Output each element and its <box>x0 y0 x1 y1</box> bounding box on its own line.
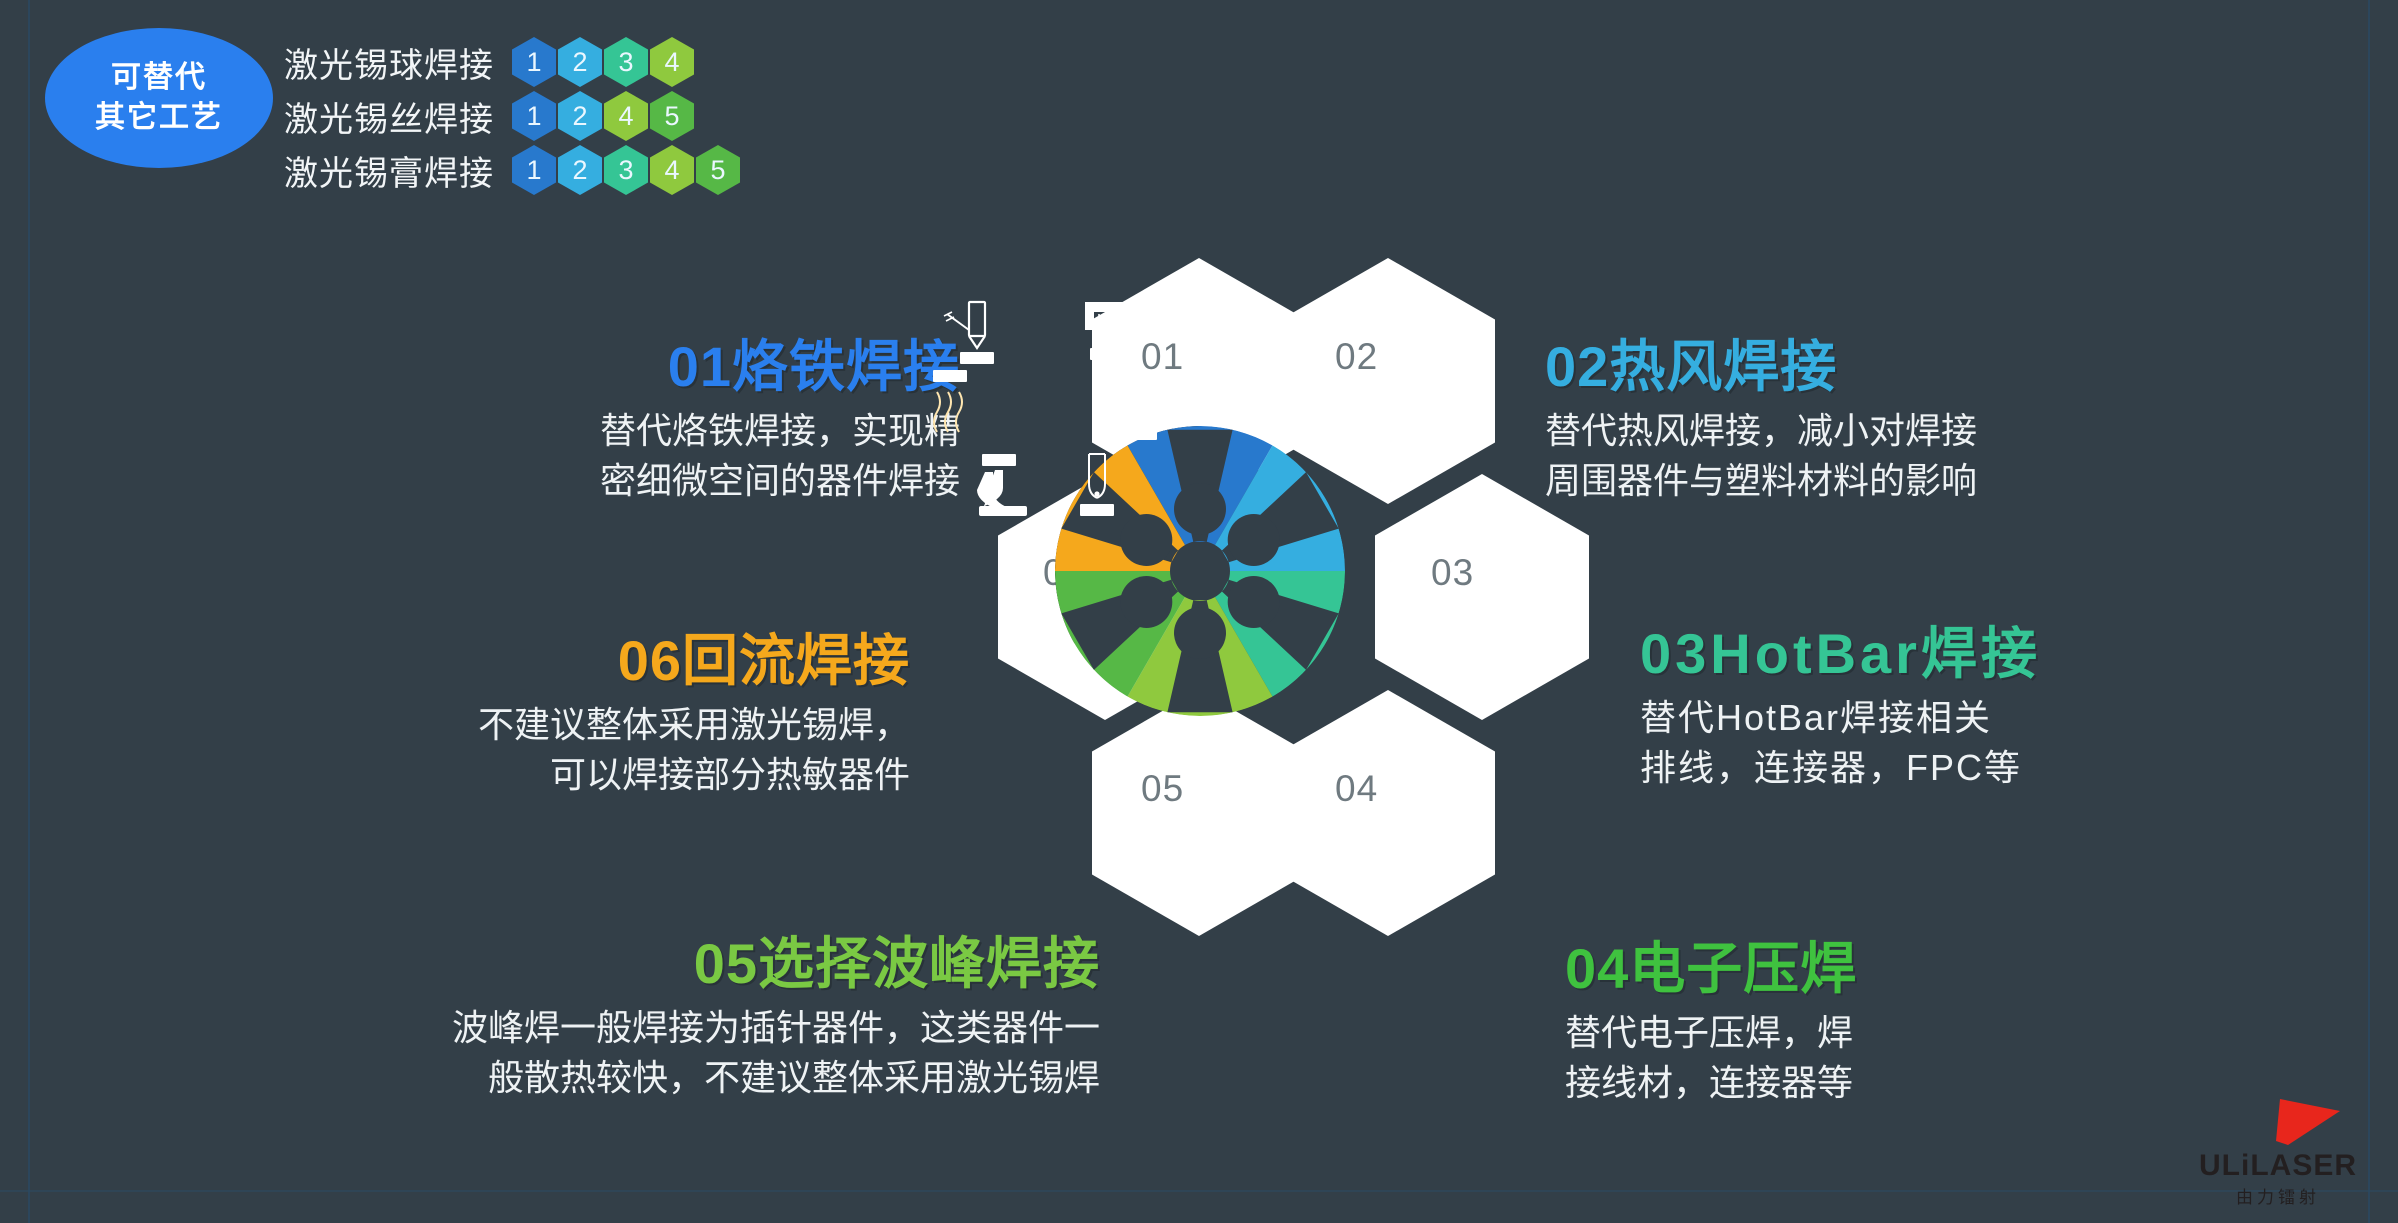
legend-label: 激光锡丝焊接 <box>284 92 502 141</box>
section-block-01: 01烙铁焊接 替代烙铁焊接，实现精 密细微空间的器件焊接 <box>300 338 960 506</box>
heat-waves-icon <box>934 392 962 432</box>
solder-pad-05 <box>982 454 1016 466</box>
hexagon-diagram: 01 02 03 04 05 06 <box>903 258 1495 938</box>
guide-line-bottom <box>0 1190 2398 1192</box>
guide-line-left <box>28 0 30 1223</box>
logo-wordmark: ULiLASER <box>2180 1149 2376 1183</box>
soldering-iron-icon <box>944 302 985 348</box>
wire-bonder-icon <box>1089 454 1105 498</box>
solder-pad-01 <box>960 352 994 364</box>
legend-label: 激光锡球焊接 <box>284 38 502 87</box>
hex-cell-04[interactable] <box>1281 690 1495 936</box>
section-block-03: 03HotBar焊接 替代HotBar焊接相关 排线，连接器，FPC等 <box>1640 625 2380 793</box>
hex-number-03: 03 <box>1431 552 1474 594</box>
hot-air-nozzle-icon <box>1085 302 1129 342</box>
solder-pad-04 <box>1080 504 1114 516</box>
legend-hex: 4 <box>604 91 648 141</box>
section-title-05: 05选择波峰焊接 <box>60 935 1100 993</box>
section-block-05: 05选择波峰焊接 波峰焊一般焊接为插针器件，这类器件一 般散热较快，不建议整体采… <box>60 935 1100 1103</box>
legend-hex: 5 <box>650 91 694 141</box>
legend-hex: 1 <box>512 91 556 141</box>
legend-hex: 3 <box>604 37 648 87</box>
hex-cell-03[interactable] <box>1375 474 1589 720</box>
legend-hex: 3 <box>604 145 648 195</box>
hex-number-05: 05 <box>1141 768 1184 810</box>
legend-label: 激光锡膏焊接 <box>284 146 502 195</box>
legend-row: 激光锡膏焊接 1 2 3 4 5 <box>284 146 742 194</box>
logo-subtitle: 由力镭射 <box>2180 1183 2376 1208</box>
legend-hex: 2 <box>558 145 602 195</box>
replaceable-processes-badge: 可替代 其它工艺 <box>45 28 273 168</box>
section-title-03: 03HotBar焊接 <box>1640 625 2380 683</box>
section-block-04: 04电子压焊 替代电子压焊，焊 接线材，连接器等 <box>1565 940 2265 1108</box>
hotbar-press-icon <box>1125 378 1155 420</box>
solder-pad-03 <box>1123 428 1157 440</box>
legend-hex: 5 <box>696 145 740 195</box>
hex-cell-05[interactable] <box>1092 690 1306 936</box>
section-desc-05: 波峰焊一般焊接为插针器件，这类器件一 般散热较快，不建议整体采用激光锡焊 <box>60 1003 1100 1102</box>
legend-hex-group: 1 2 4 5 <box>512 91 696 141</box>
hex-number-02: 02 <box>1335 336 1378 378</box>
wave-solder-icon <box>977 470 1027 516</box>
guide-line-right <box>2368 0 2370 1223</box>
legend-hex: 1 <box>512 145 556 195</box>
badge-line-1: 可替代 <box>111 58 207 98</box>
hex-number-04: 04 <box>1335 768 1378 810</box>
logo-mark-icon <box>2180 1093 2376 1149</box>
legend-row: 激光锡球焊接 1 2 3 4 <box>284 38 742 86</box>
section-title-04: 04电子压焊 <box>1565 940 2265 998</box>
section-title-02: 02热风焊接 <box>1545 338 2265 396</box>
section-desc-06: 不建议整体采用激光锡焊， 可以焊接部分热敏器件 <box>170 700 910 799</box>
section-desc-01: 替代烙铁焊接，实现精 密细微空间的器件焊接 <box>300 406 960 505</box>
section-block-06: 06回流焊接 不建议整体采用激光锡焊， 可以焊接部分热敏器件 <box>170 632 910 800</box>
section-desc-03: 替代HotBar焊接相关 排线，连接器，FPC等 <box>1640 693 2380 792</box>
legend-hex: 4 <box>650 37 694 87</box>
legend-row: 激光锡丝焊接 1 2 4 5 <box>284 92 742 140</box>
section-block-02: 02热风焊接 替代热风焊接，减小对焊接 周围器件与塑料材料的影响 <box>1545 338 2265 506</box>
solder-pad-02 <box>1090 348 1124 360</box>
infographic-canvas: 可替代 其它工艺 激光锡球焊接 1 2 3 4 激光锡丝焊接 1 2 4 5 激… <box>0 0 2398 1223</box>
petal-icon-layer <box>903 258 1193 548</box>
section-desc-02: 替代热风焊接，减小对焊接 周围器件与塑料材料的影响 <box>1545 406 2265 505</box>
legend-hex: 4 <box>650 145 694 195</box>
section-desc-04: 替代电子压焊，焊 接线材，连接器等 <box>1565 1008 2265 1107</box>
solder-pad-06 <box>933 370 967 382</box>
badge-line-2: 其它工艺 <box>95 98 223 138</box>
company-logo: ULiLASER 由力镭射 <box>2180 1093 2376 1209</box>
section-title-06: 06回流焊接 <box>170 632 910 690</box>
legend-group: 激光锡球焊接 1 2 3 4 激光锡丝焊接 1 2 4 5 激光锡膏焊接 1 2… <box>284 38 742 200</box>
section-title-01: 01烙铁焊接 <box>300 338 960 396</box>
legend-hex: 2 <box>558 37 602 87</box>
legend-hex-group: 1 2 3 4 5 <box>512 145 742 195</box>
legend-hex: 1 <box>512 37 556 87</box>
legend-hex-group: 1 2 3 4 <box>512 37 696 87</box>
legend-hex: 2 <box>558 91 602 141</box>
